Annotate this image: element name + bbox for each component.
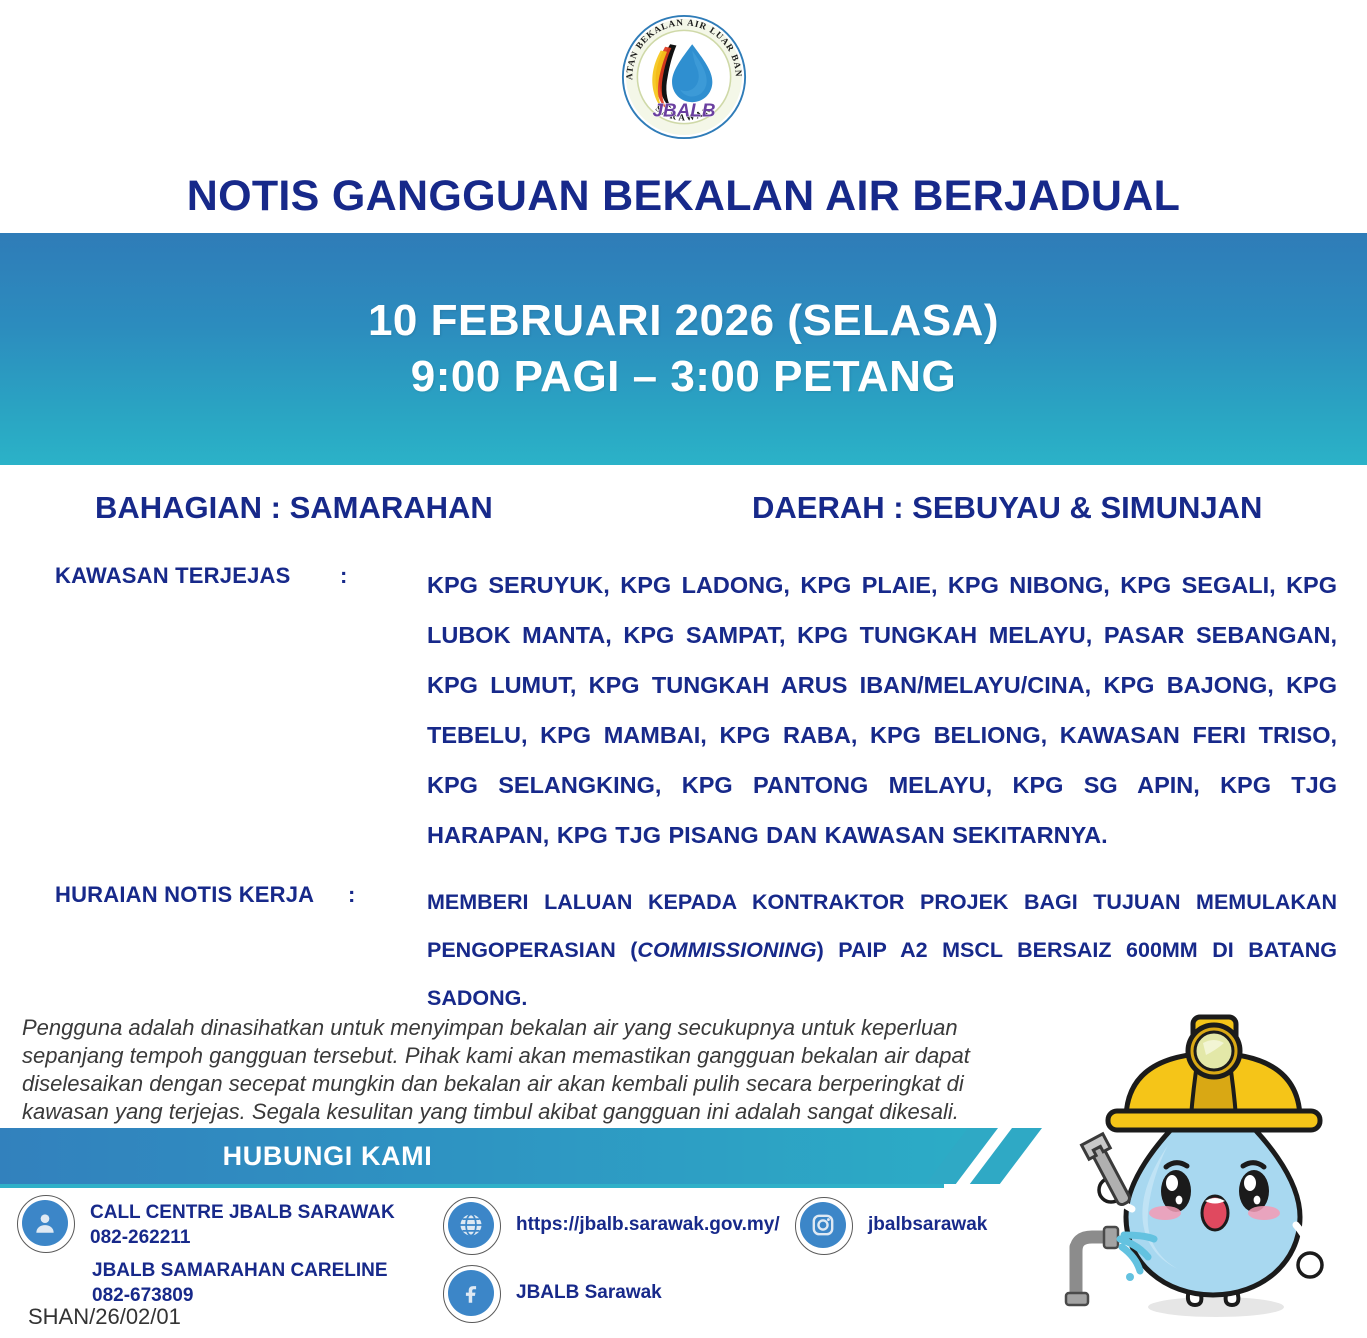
contact-website[interactable]: https://jbalb.sarawak.gov.my/ bbox=[448, 1202, 780, 1248]
person-icon bbox=[22, 1200, 68, 1246]
globe-glyph bbox=[457, 1211, 485, 1239]
work-description-label: HURAIAN NOTIS KERJA bbox=[55, 882, 314, 908]
contact-call-centre: CALL CENTRE JBALB SARAWAK 082-262211 bbox=[22, 1200, 395, 1250]
contact-instagram[interactable]: jbalbsarawak bbox=[800, 1202, 987, 1248]
facebook-icon bbox=[448, 1270, 494, 1316]
affected-areas-colon: : bbox=[340, 563, 347, 589]
contact-facebook[interactable]: JBALB Sarawak bbox=[448, 1270, 662, 1316]
advisory-paragraph: Pengguna adalah dinasihatkan untuk menyi… bbox=[22, 1014, 977, 1126]
notice-page: JABATAN BEKALAN AIR LUAR BANDAR SARAWAK … bbox=[0, 0, 1367, 1338]
affected-areas-label: KAWASAN TERJEJAS bbox=[55, 563, 290, 589]
contact-banner-bar: HUBUNGI KAMI bbox=[0, 1128, 985, 1184]
contact-banner-title: HUBUNGI KAMI bbox=[223, 1141, 433, 1172]
globe-icon bbox=[448, 1202, 494, 1248]
call-centre-name: CALL CENTRE JBALB SARAWAK bbox=[90, 1200, 395, 1225]
logo-container: JABATAN BEKALAN AIR LUAR BANDAR SARAWAK … bbox=[0, 14, 1367, 150]
page-title-text: NOTIS GANGGUAN BEKALAN AIR BERJADUAL bbox=[187, 172, 1180, 221]
affected-areas-text: KPG SERUYUK, KPG LADONG, KPG PLAIE, KPG … bbox=[427, 560, 1337, 860]
page-title: NOTIS GANGGUAN BEKALAN AIR BERJADUAL bbox=[0, 160, 1367, 232]
notice-time: 9:00 PAGI – 3:00 PETANG bbox=[411, 352, 956, 402]
date-time-banner: 10 FEBRUARI 2026 (SELASA) 9:00 PAGI – 3:… bbox=[0, 233, 1367, 465]
jbalb-logo-icon: JABATAN BEKALAN AIR LUAR BANDAR SARAWAK … bbox=[621, 14, 747, 140]
instagram-icon bbox=[800, 1202, 846, 1248]
facebook-handle[interactable]: JBALB Sarawak bbox=[516, 1282, 662, 1304]
svg-text:JBALB: JBALB bbox=[652, 101, 715, 122]
work-description-colon: : bbox=[348, 882, 355, 908]
reference-code: SHAN/26/02/01 bbox=[28, 1304, 181, 1330]
call-centre-number[interactable]: 082-262211 bbox=[90, 1225, 395, 1250]
facebook-glyph bbox=[458, 1280, 484, 1306]
division-label: BAHAGIAN : SAMARAHAN bbox=[95, 490, 493, 526]
notice-date: 10 FEBRUARI 2026 (SELASA) bbox=[368, 296, 999, 346]
contact-banner-underline bbox=[0, 1184, 944, 1188]
website-url[interactable]: https://jbalb.sarawak.gov.my/ bbox=[516, 1214, 780, 1236]
work-text-italic: COMMISSIONING bbox=[637, 938, 816, 962]
instagram-glyph bbox=[810, 1212, 836, 1238]
careline-name: JBALB SAMARAHAN CARELINE bbox=[92, 1258, 388, 1283]
district-label: DAERAH : SEBUYAU & SIMUNJAN bbox=[752, 490, 1262, 526]
water-droplet-worker-mascot-icon bbox=[1048, 995, 1363, 1333]
location-row: BAHAGIAN : SAMARAHAN DAERAH : SEBUYAU & … bbox=[0, 490, 1367, 536]
person-glyph bbox=[32, 1210, 58, 1236]
instagram-handle[interactable]: jbalbsarawak bbox=[868, 1214, 987, 1236]
contact-careline: JBALB SAMARAHAN CARELINE 082-673809 bbox=[92, 1258, 388, 1308]
